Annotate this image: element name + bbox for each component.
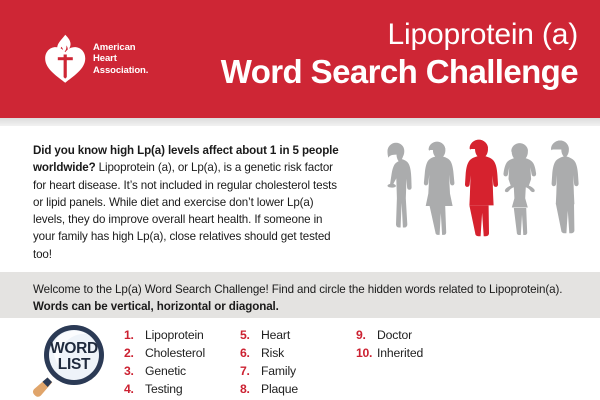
word-label: Family (261, 363, 296, 381)
intro-section: Did you know high Lp(a) levels affect ab… (0, 126, 600, 272)
page-header: American Heart Association. Lipoprotein … (0, 0, 600, 118)
word-list-columns: 1. Lipoprotein 2. Cholesterol 3. Genetic… (124, 327, 468, 399)
word-label: Inherited (377, 345, 423, 363)
word-list-badge-line2: LIST (58, 356, 91, 373)
word-number: 7. (240, 363, 261, 381)
page-title-line2: Word Search Challenge (221, 53, 578, 91)
magnifying-glass-handle-icon (33, 378, 52, 397)
word-label: Cholesterol (145, 345, 205, 363)
word-label: Heart (261, 327, 290, 345)
word-number: 4. (124, 381, 145, 399)
page-title-line1: Lipoprotein (a) (221, 18, 578, 52)
silhouette-5 (551, 141, 579, 234)
word-number: 6. (240, 345, 261, 363)
five-people-silhouettes (371, 138, 586, 266)
list-item[interactable]: 3. Genetic (124, 363, 240, 381)
aha-logo-wordmark: American Heart Association. (93, 42, 148, 77)
word-list-column-3: 9. Doctor 10. Inherited (356, 327, 468, 399)
header-divider (0, 118, 600, 126)
list-item[interactable]: 8. Plaque (240, 381, 356, 399)
word-label: Genetic (145, 363, 186, 381)
welcome-emphasis: Words can be vertical, horizontal or dia… (33, 300, 279, 313)
word-number: 9. (356, 327, 377, 345)
word-number: 5. (240, 327, 261, 345)
word-label: Plaque (261, 381, 298, 399)
list-item[interactable]: 1. Lipoprotein (124, 327, 240, 345)
list-item[interactable]: 6. Risk (240, 345, 356, 363)
welcome-paragraph: Welcome to the Lp(a) Word Search Challen… (33, 281, 573, 316)
word-list-column-1: 1. Lipoprotein 2. Cholesterol 3. Genetic… (124, 327, 240, 399)
word-number: 3. (124, 363, 145, 381)
word-list-badge-line1: WORD (50, 340, 98, 357)
list-item[interactable]: 7. Family (240, 363, 356, 381)
list-item[interactable]: 9. Doctor (356, 327, 468, 345)
silhouette-1 (388, 143, 412, 228)
aha-heart-torch-logo-icon (44, 34, 86, 84)
silhouette-3-highlighted (465, 140, 498, 237)
list-item[interactable]: 2. Cholesterol (124, 345, 240, 363)
word-number: 10. (356, 345, 377, 363)
aha-logo: American Heart Association. (44, 34, 148, 84)
word-label: Risk (261, 345, 284, 363)
word-label: Doctor (377, 327, 412, 345)
silhouette-2 (424, 142, 455, 235)
list-item[interactable]: 4. Testing (124, 381, 240, 399)
intro-body: Lipoprotein (a), or Lp(a), is a genetic … (33, 161, 337, 260)
list-item[interactable]: 10. Inherited (356, 345, 468, 363)
header-titles: Lipoprotein (a) Word Search Challenge (221, 18, 578, 91)
list-item[interactable]: 5. Heart (240, 327, 356, 345)
word-list-badge: WORD LIST (27, 323, 115, 397)
intro-paragraph: Did you know high Lp(a) levels affect ab… (33, 142, 345, 263)
word-label: Lipoprotein (145, 327, 204, 345)
word-number: 1. (124, 327, 145, 345)
word-label: Testing (145, 381, 183, 399)
welcome-text: Welcome to the Lp(a) Word Search Challen… (33, 283, 562, 296)
word-list-column-2: 5. Heart 6. Risk 7. Family 8. Plaque (240, 327, 356, 399)
silhouette-4 (503, 143, 536, 235)
welcome-band: Welcome to the Lp(a) Word Search Challen… (0, 272, 600, 318)
word-list-section: WORD LIST 1. Lipoprotein 2. Cholesterol … (0, 318, 600, 400)
word-number: 8. (240, 381, 261, 399)
word-number: 2. (124, 345, 145, 363)
